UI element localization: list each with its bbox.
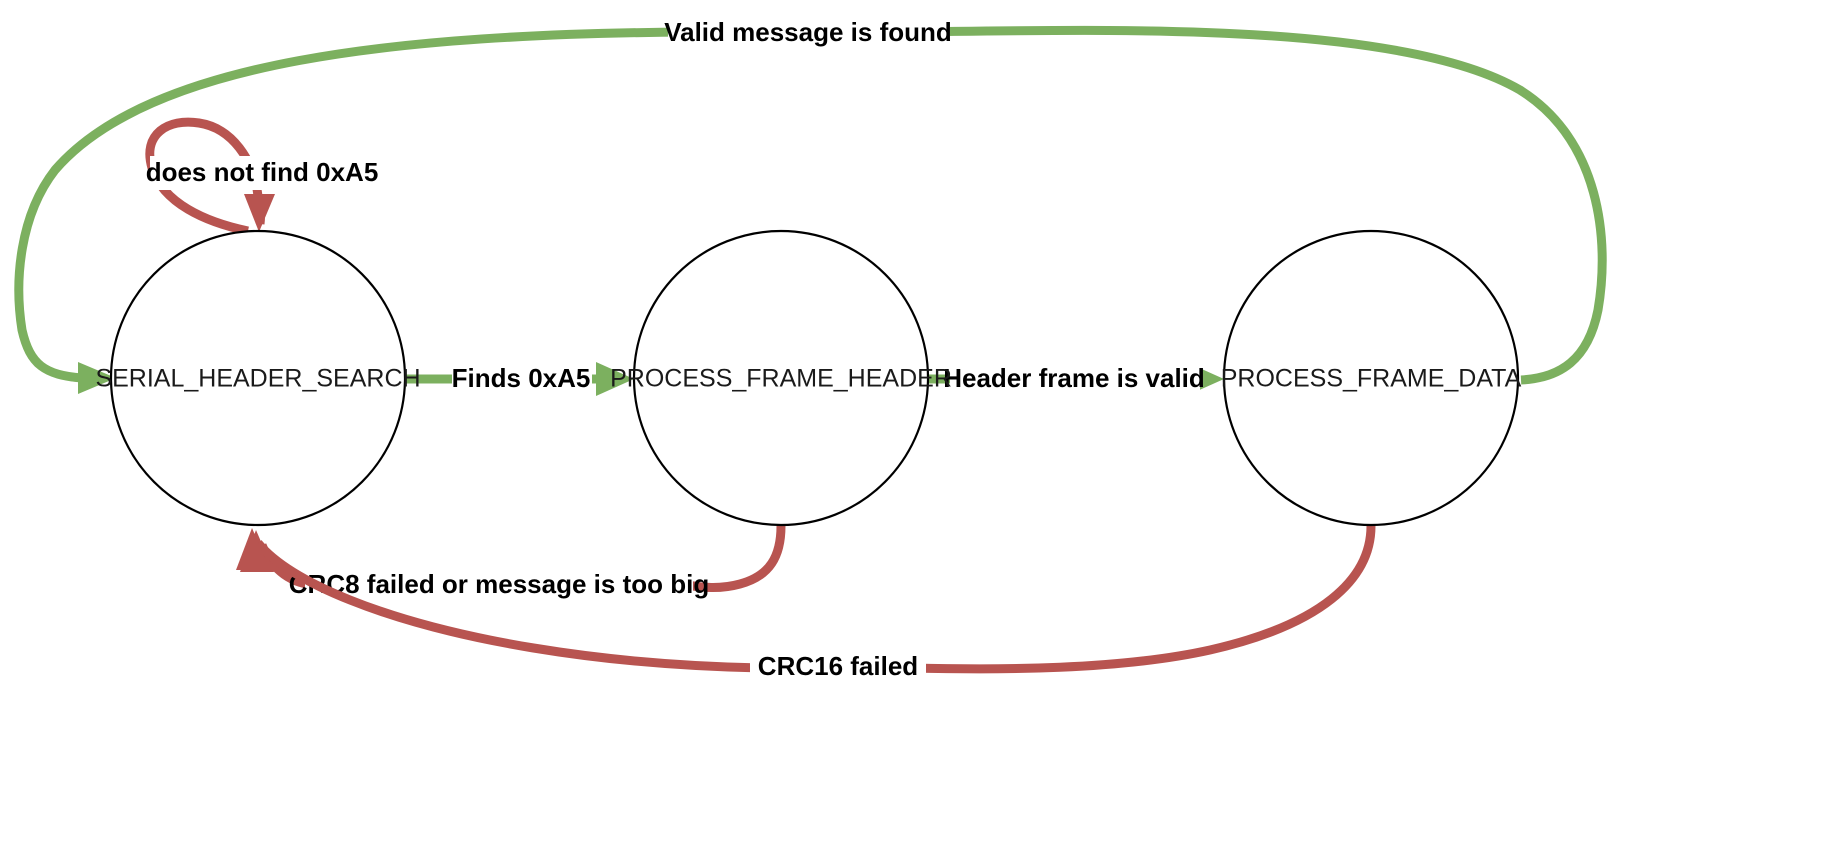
state-machine-diagram: Valid message is found does not find 0xA… (0, 0, 1822, 841)
transition-label-crc8-failed: CRC8 failed or message is too big (289, 569, 709, 599)
transition-label-header-frame-is-valid: Header frame is valid (943, 363, 1205, 393)
transition-finds-0xa5[interactable]: Finds 0xA5 (406, 362, 634, 396)
state-node-serial-header-search[interactable]: SERIAL_HEADER_SEARCH (95, 231, 420, 525)
transition-does-not-find-0xa5[interactable]: does not find 0xA5 (146, 122, 379, 232)
transition-label-crc16-failed: CRC16 failed (758, 651, 918, 681)
transition-label-does-not-find-0xa5: does not find 0xA5 (146, 157, 379, 187)
state-label-serial-header-search: SERIAL_HEADER_SEARCH (95, 365, 420, 393)
transition-label-finds-0xa5: Finds 0xA5 (452, 363, 591, 393)
transition-label-valid-message-found: Valid message is found (664, 17, 952, 47)
state-label-process-frame-data: PROCESS_FRAME_DATA (1221, 365, 1522, 393)
transition-header-frame-is-valid[interactable]: Header frame is valid (929, 362, 1224, 396)
fsm-canvas: Valid message is found does not find 0xA… (0, 0, 1822, 841)
state-node-process-frame-header[interactable]: PROCESS_FRAME_HEADER (610, 231, 952, 525)
transition-crc16-failed[interactable]: CRC16 failed (236, 526, 1371, 684)
state-node-process-frame-data[interactable]: PROCESS_FRAME_DATA (1221, 231, 1522, 525)
arrowhead-does-not-find-0xa5 (244, 194, 275, 232)
state-label-process-frame-header: PROCESS_FRAME_HEADER (610, 365, 952, 393)
